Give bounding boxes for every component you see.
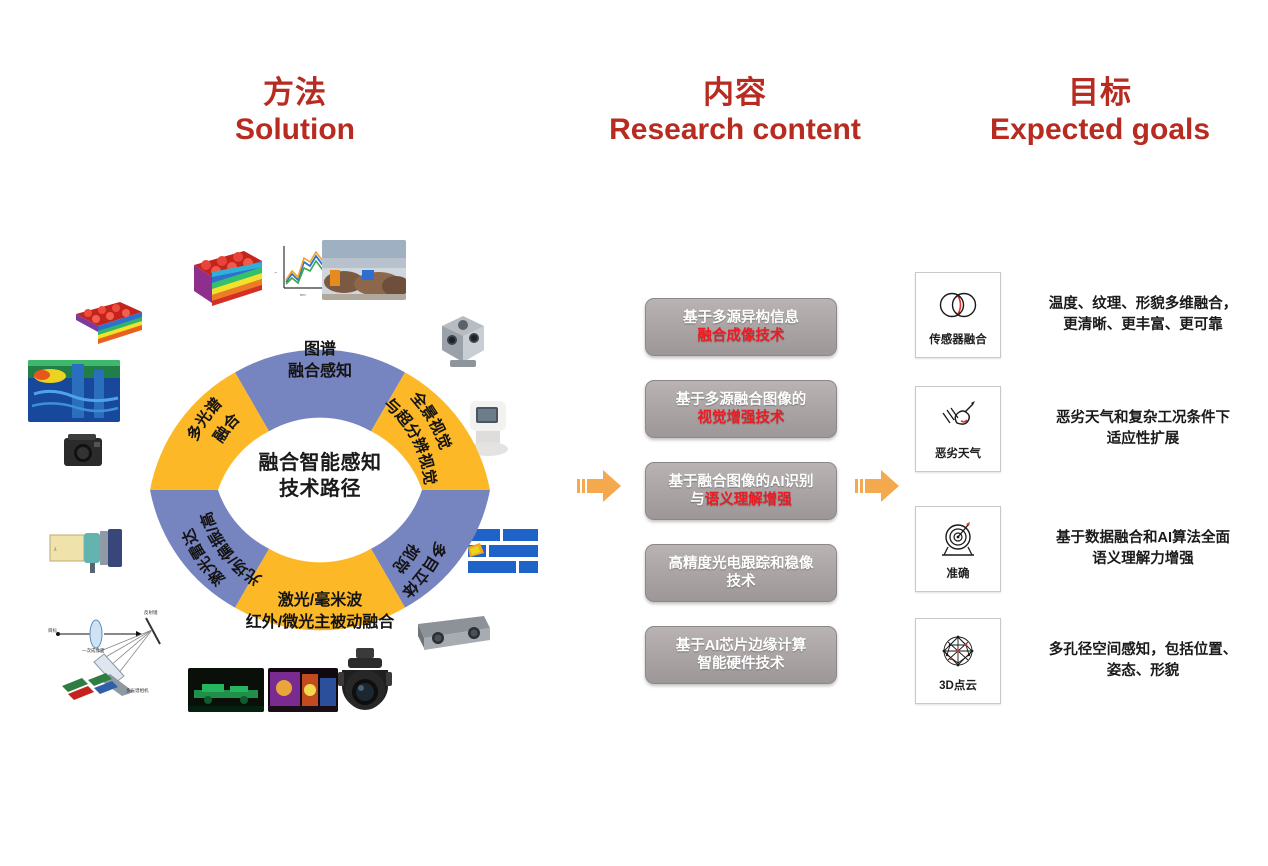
goal-card-caption-2: 准确 <box>947 565 970 581</box>
research-box-3-line2: 技术 <box>669 573 814 591</box>
column-header-goals-en: Expected goals <box>935 113 1265 147</box>
donut-center-line1: 融合智能感知 <box>220 450 420 476</box>
research-box-2-line2-prefix: 与 <box>690 492 705 508</box>
svg-text:多光谱相机: 多光谱相机 <box>126 687 149 694</box>
point-cloud-icon <box>935 629 981 673</box>
donut-label-tupu-line2: 融合感知 <box>288 361 352 380</box>
diagram-canvas: 方法 Solution 内容 Research content 目标 Expec… <box>0 0 1268 866</box>
goal-text-2-line2: 语义理解力增强 <box>1027 549 1259 570</box>
research-box-0-line1: 基于多源异构信息 <box>683 309 799 327</box>
svg-text:目标: 目标 <box>48 627 57 634</box>
column-header-goals-cn: 目标 <box>935 76 1265 111</box>
goal-text-2: 基于数据融合和AI算法全面 语义理解力增强 <box>1027 528 1259 569</box>
research-box-1-line1: 基于多源融合图像的 <box>676 391 807 409</box>
arrow-solution-to-content <box>577 466 623 506</box>
donut-label-active-line1: 激光/毫米波 <box>278 590 363 609</box>
goal-text-0: 温度、纹理、形貌多维融合， 更清晰、更丰富、更可靠 <box>1027 294 1259 335</box>
target-icon <box>935 517 981 561</box>
column-header-content-en: Research content <box>590 113 880 147</box>
research-box-1[interactable]: 基于多源融合图像的 视觉增强技术 <box>645 380 837 438</box>
thermal-camera-thumbnail <box>60 430 108 470</box>
research-box-2[interactable]: 基于融合图像的AI识别 与语义理解增强 <box>645 462 837 520</box>
goal-text-1: 恶劣天气和复杂工况条件下 适应性扩展 <box>1027 408 1259 449</box>
svg-text:nm: nm <box>300 292 306 297</box>
goal-card-caption-1: 恶劣天气 <box>935 445 981 461</box>
goal-card-caption-0: 传感器融合 <box>929 331 987 347</box>
column-header-goals: 目标 Expected goals <box>935 76 1265 146</box>
goal-row-point-cloud: 3D点云 多孔径空间感知，包括位置、 姿态、形貌 <box>915 618 1260 704</box>
arrow-content-to-goals <box>855 466 901 506</box>
research-box-0-line2: 融合成像技术 <box>683 327 799 345</box>
goal-row-sensor-fusion: 传感器融合 温度、纹理、形貌多维融合， 更清晰、更丰富、更可靠 <box>915 272 1260 358</box>
column-header-solution-en: Solution <box>150 113 440 147</box>
research-box-4[interactable]: 基于AI芯片边缘计算 智能硬件技术 <box>645 626 837 684</box>
research-box-3-line1: 高精度光电跟踪和稳像 <box>669 555 814 573</box>
goal-card-point-cloud[interactable]: 3D点云 <box>915 618 1001 704</box>
goal-card-bad-weather[interactable]: 恶劣天气 <box>915 386 1001 472</box>
venn-circles-icon <box>935 283 981 327</box>
goal-text-1-line2: 适应性扩展 <box>1027 429 1259 450</box>
bad-weather-icon <box>935 397 981 441</box>
laser-module-thumbnail: λ <box>48 525 134 577</box>
column-header-solution: 方法 Solution <box>150 76 440 146</box>
research-box-4-line2: 智能硬件技术 <box>676 655 807 673</box>
goal-card-accuracy[interactable]: 准确 <box>915 506 1001 592</box>
research-box-3[interactable]: 高精度光电跟踪和稳像 技术 <box>645 544 837 602</box>
goal-text-1-line1: 恶劣天气和复杂工况条件下 <box>1027 408 1259 429</box>
goal-text-0-line1: 温度、纹理、形貌多维融合， <box>1027 294 1259 315</box>
donut-label-active-line2: 红外/微光主被动融合 <box>246 612 395 631</box>
thermal-image-thumbnail <box>28 360 120 422</box>
research-box-4-line1: 基于AI芯片边缘计算 <box>676 637 807 655</box>
industrial-pipe-photo-thumbnail <box>322 240 406 300</box>
donut-center-line2: 技术路径 <box>220 476 420 502</box>
goal-card-sensor-fusion[interactable]: 传感器融合 <box>915 272 1001 358</box>
goal-text-2-line1: 基于数据融合和AI算法全面 <box>1027 528 1259 549</box>
donut-center-label: 融合智能感知 技术路径 <box>220 450 420 503</box>
technology-roadmap-donut: 图谱 融合感知 激光/毫米波 红外/微光主被动融合 全景视觉 与超分辨视觉 多目… <box>130 300 510 680</box>
goal-row-accuracy: 准确 基于数据融合和AI算法全面 语义理解力增强 <box>915 506 1260 592</box>
goal-card-caption-3: 3D点云 <box>939 677 977 693</box>
research-box-2-line2: 语义理解增强 <box>705 492 792 508</box>
column-header-solution-cn: 方法 <box>150 76 440 111</box>
svg-text:一次成像面: 一次成像面 <box>82 647 105 654</box>
svg-text:I: I <box>273 272 278 273</box>
goal-text-0-line2: 更清晰、更丰富、更可靠 <box>1027 315 1259 336</box>
column-header-content-cn: 内容 <box>590 76 880 111</box>
goal-text-3-line2: 姿态、形貌 <box>1027 661 1259 682</box>
goal-row-bad-weather: 恶劣天气 恶劣天气和复杂工况条件下 适应性扩展 <box>915 386 1260 472</box>
goal-text-3: 多孔径空间感知，包括位置、 姿态、形貌 <box>1027 640 1259 681</box>
column-header-content: 内容 Research content <box>590 76 880 146</box>
research-box-1-line2: 视觉增强技术 <box>676 409 807 427</box>
donut-label-tupu-line1: 图谱 <box>304 339 336 358</box>
research-box-0[interactable]: 基于多源异构信息 融合成像技术 <box>645 298 837 356</box>
research-box-2-line1: 基于融合图像的AI识别 <box>669 473 814 491</box>
goal-text-3-line1: 多孔径空间感知，包括位置、 <box>1027 640 1259 661</box>
